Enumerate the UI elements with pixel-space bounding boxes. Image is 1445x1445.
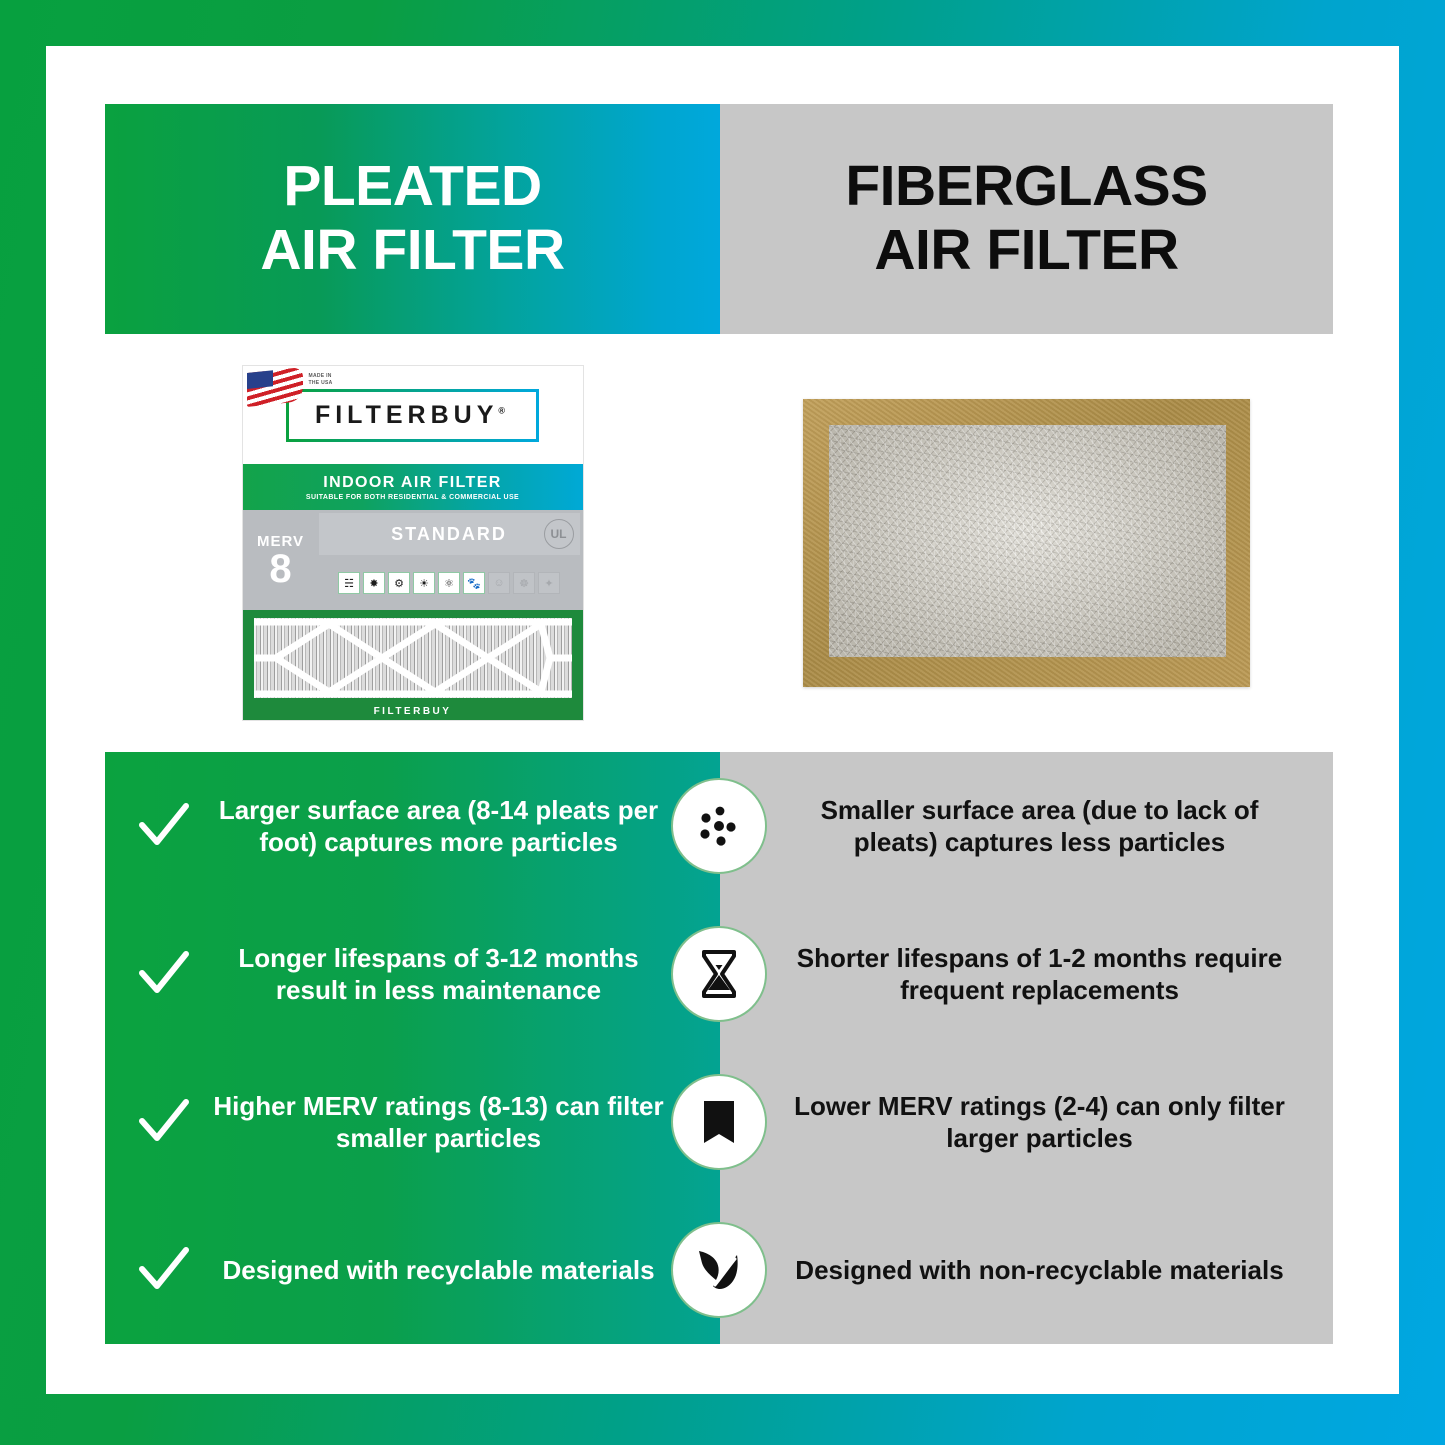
comparison-row: Designed with recyclable materials Desig… — [105, 1196, 1333, 1344]
filterbuy-box-top: MADE IN THE USA FILTERBUY® — [243, 366, 583, 464]
row-left-text: Higher MERV ratings (8-13) can filter sm… — [203, 1090, 674, 1155]
row-right-fiberglass: Smaller surface area (due to lack of ple… — [720, 752, 1333, 900]
ul-badge-text: UL — [551, 527, 567, 541]
comparison-row: Longer lifespans of 3-12 months result i… — [105, 900, 1333, 1048]
comparison-row: Larger surface area (8-14 pleats per foo… — [105, 752, 1333, 900]
fiberglass-mesh-texture — [829, 425, 1226, 657]
grade-row: STANDARD UL — [319, 513, 580, 555]
row-left-text: Larger surface area (8-14 pleats per foo… — [203, 794, 674, 859]
header-pleated-line2: AIR FILTER — [260, 219, 564, 283]
row-right-text: Designed with non-recyclable materials — [780, 1254, 1299, 1287]
header-band: PLEATED AIR FILTER FIBERGLASS AIR FILTER — [105, 104, 1333, 334]
made-in-usa-label: MADE IN THE USA — [309, 373, 333, 387]
smog-icon: ☀ — [413, 572, 435, 594]
fiberglass-product-cell — [720, 334, 1333, 752]
smoke-icon-dim: ☺ — [488, 572, 510, 594]
comparison-row: Higher MERV ratings (8-13) can filter sm… — [105, 1048, 1333, 1196]
filterbuy-product-box: MADE IN THE USA FILTERBUY® INDOOR AIR FI… — [243, 366, 583, 720]
grade-label: STANDARD — [391, 524, 507, 545]
pet-dander-icon: 🐾 — [463, 572, 485, 594]
pleated-product-cell: MADE IN THE USA FILTERBUY® INDOOR AIR FI… — [105, 334, 720, 752]
bookmark-icon — [671, 1074, 767, 1170]
header-fiberglass-line1: FIBERGLASS — [845, 155, 1207, 219]
row-left-pleated: Longer lifespans of 3-12 months result i… — [105, 900, 720, 1048]
row-right-text: Shorter lifespans of 1-2 months require … — [780, 942, 1299, 1007]
leaf-eco-icon — [671, 1222, 767, 1318]
merv-right-col: STANDARD UL ☵ ✸ ⚙ ☀ ⚛ 🐾 ☺ — [319, 510, 583, 610]
particles-icon — [671, 778, 767, 874]
germs-icon: ⚛ — [438, 572, 460, 594]
row-right-text: Smaller surface area (due to lack of ple… — [780, 794, 1299, 859]
filterbuy-logo-frame: FILTERBUY® — [286, 389, 539, 442]
usa-flag-icon — [247, 367, 303, 407]
checkmark-icon — [133, 1242, 195, 1298]
merv-value: 8 — [269, 550, 291, 588]
band-subtitle: SUITABLE FOR BOTH RESIDENTIAL & COMMERCI… — [306, 494, 519, 501]
fiberglass-filter-image — [803, 399, 1250, 687]
row-right-fiberglass: Lower MERV ratings (2-4) can only filter… — [720, 1048, 1333, 1196]
made-in-line2: THE USA — [309, 380, 333, 387]
row-right-fiberglass: Shorter lifespans of 1-2 months require … — [720, 900, 1333, 1048]
header-fiberglass-title: FIBERGLASS AIR FILTER — [845, 155, 1207, 283]
hourglass-icon — [671, 926, 767, 1022]
comparison-rows: Larger surface area (8-14 pleats per foo… — [105, 752, 1333, 1344]
row-right-text: Lower MERV ratings (2-4) can only filter… — [780, 1090, 1299, 1155]
ul-certification-icon: UL — [544, 519, 574, 549]
band-title: INDOOR AIR FILTER — [323, 474, 501, 492]
header-pleated: PLEATED AIR FILTER — [105, 104, 720, 334]
pleated-filter-media: FILTERBUY — [243, 610, 583, 720]
bacteria-virus-icon-dim: ☸ — [513, 572, 535, 594]
checkmark-icon — [133, 1094, 195, 1150]
filter-support-grid — [254, 618, 572, 698]
row-left-pleated: Higher MERV ratings (8-13) can filter sm… — [105, 1048, 720, 1196]
comparison-infographic: PLEATED AIR FILTER FIBERGLASS AIR FILTER — [105, 104, 1333, 1344]
white-card: PLEATED AIR FILTER FIBERGLASS AIR FILTER — [46, 46, 1399, 1394]
pollen-mold-icon: ✸ — [363, 572, 385, 594]
row-right-fiberglass: Designed with non-recyclable materials — [720, 1196, 1333, 1344]
header-fiberglass-line2: AIR FILTER — [845, 219, 1207, 283]
indoor-air-filter-band: INDOOR AIR FILTER SUITABLE FOR BOTH RESI… — [243, 464, 583, 510]
checkmark-icon — [133, 946, 195, 1002]
made-in-line1: MADE IN — [309, 373, 333, 380]
merv-block: MERV 8 — [243, 510, 319, 610]
row-left-pleated: Larger surface area (8-14 pleats per foo… — [105, 752, 720, 900]
trademark-mark: ® — [498, 405, 510, 415]
merv-spec-area: MERV 8 STANDARD UL ☵ ✸ ⚙ — [243, 510, 583, 610]
virus-icon-dim: ✦ — [538, 572, 560, 594]
product-image-band: MADE IN THE USA FILTERBUY® INDOOR AIR FI… — [105, 334, 1333, 752]
row-left-pleated: Designed with recyclable materials — [105, 1196, 720, 1344]
dust-lint-icon: ☵ — [338, 572, 360, 594]
row-left-text: Designed with recyclable materials — [203, 1254, 674, 1287]
header-fiberglass: FIBERGLASS AIR FILTER — [720, 104, 1333, 334]
bacteria-icon: ⚙ — [388, 572, 410, 594]
checkmark-icon — [133, 798, 195, 854]
filterbuy-wordmark: FILTERBUY — [315, 401, 498, 429]
header-pleated-line1: PLEATED — [260, 155, 564, 219]
filterbuy-logo: FILTERBUY® — [315, 401, 510, 430]
filter-footer-label: FILTERBUY — [243, 706, 583, 717]
row-left-text: Longer lifespans of 3-12 months result i… — [203, 942, 674, 1007]
header-pleated-title: PLEATED AIR FILTER — [260, 155, 564, 283]
capture-icon-row: ☵ ✸ ⚙ ☀ ⚛ 🐾 ☺ ☸ ✦ — [319, 555, 580, 607]
